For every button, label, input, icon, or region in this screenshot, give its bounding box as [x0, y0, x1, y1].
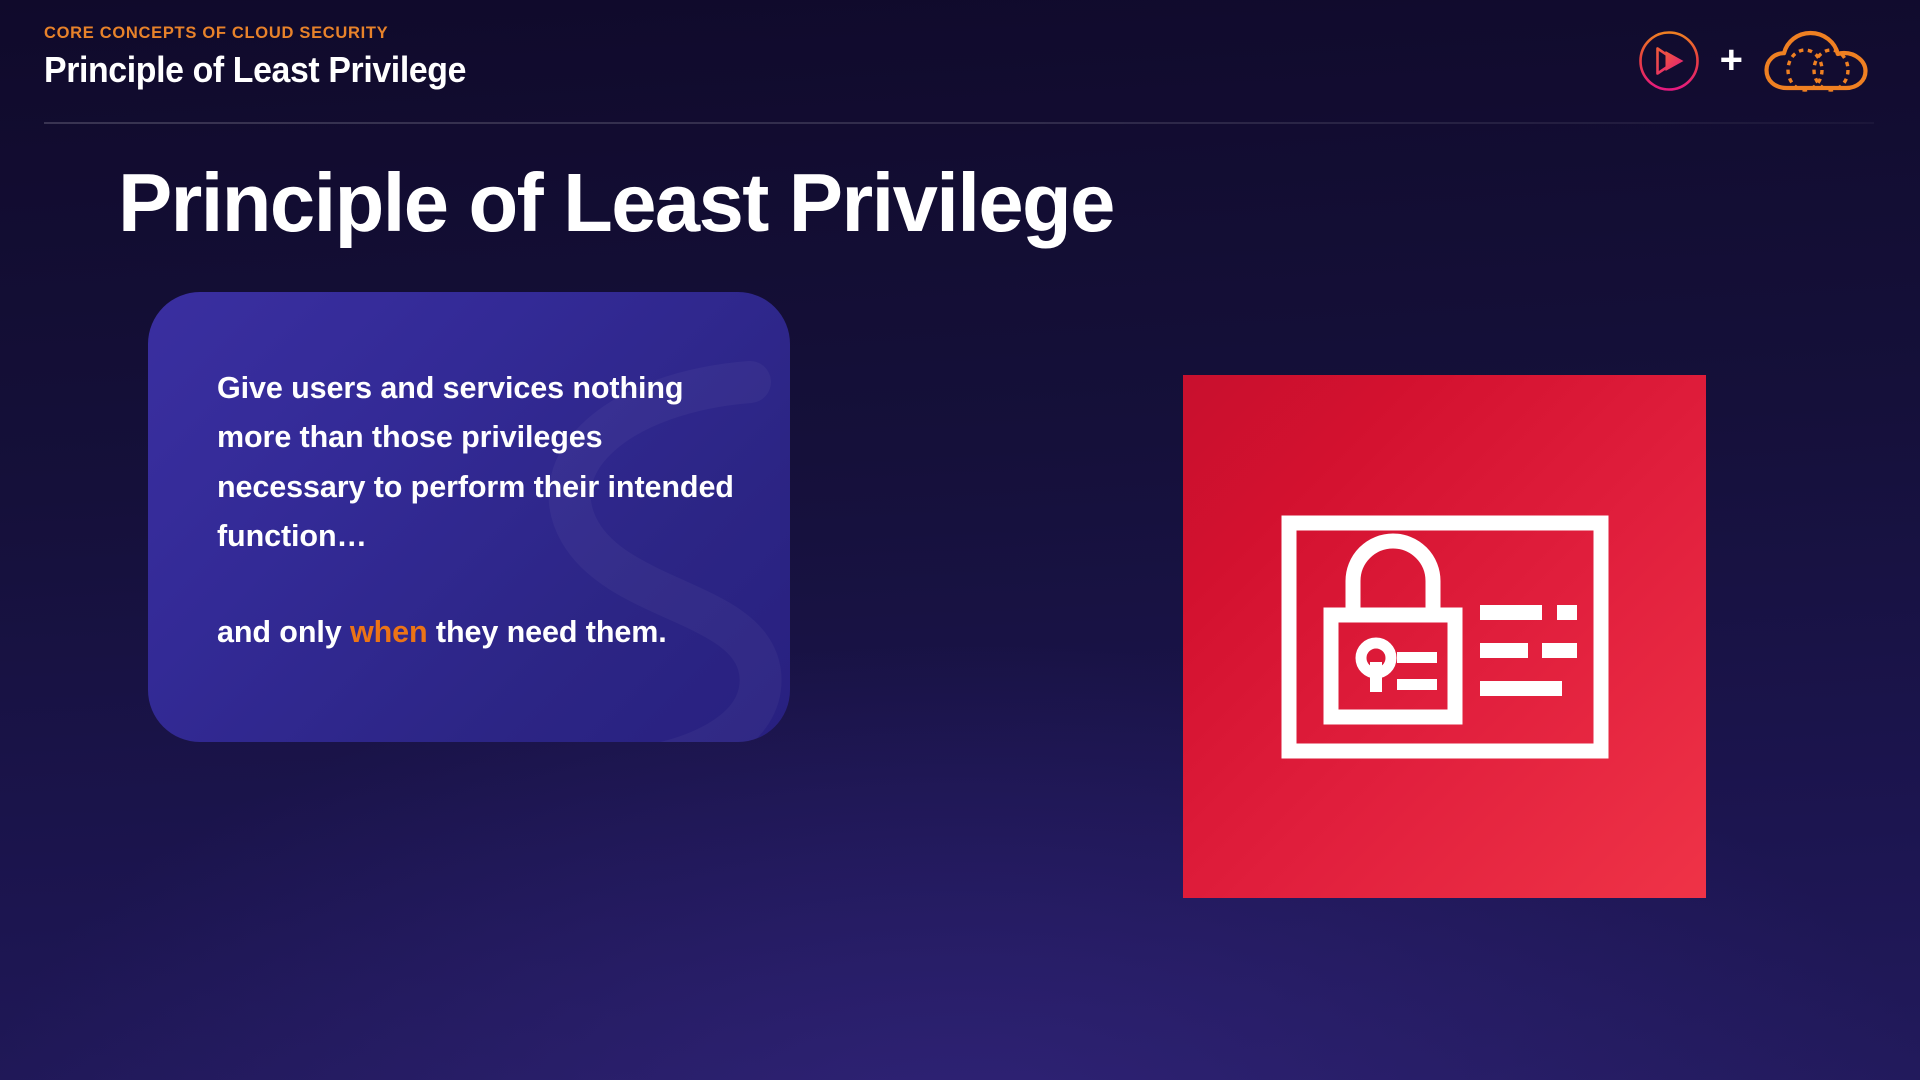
- card-paragraph-secondary: and only when they need them.: [217, 608, 737, 657]
- definition-card: Give users and services nothing more tha…: [148, 292, 790, 742]
- slide-header: CORE CONCEPTS OF CLOUD SECURITY Principl…: [0, 0, 1920, 150]
- cloud-outline-logo-icon: [1763, 28, 1873, 94]
- header-divider: [44, 122, 1874, 124]
- plus-separator: +: [1720, 40, 1743, 80]
- card-paragraph-secondary-after: they need them.: [428, 615, 667, 649]
- card-paragraph-primary: Give users and services nothing more tha…: [217, 364, 737, 562]
- header-title: Principle of Least Privilege: [44, 51, 466, 89]
- header-text-block: CORE CONCEPTS OF CLOUD SECURITY Principl…: [44, 24, 493, 89]
- brand-logo-group: +: [1638, 26, 1873, 96]
- iam-icon-panel: [1183, 375, 1706, 898]
- aws-iam-identity-card-lock-icon: [1265, 457, 1625, 817]
- header-eyebrow: CORE CONCEPTS OF CLOUD SECURITY: [44, 24, 493, 42]
- page-title: Principle of Least Privilege: [118, 158, 1114, 248]
- play-circle-logo-icon: [1638, 30, 1700, 92]
- card-highlight-when: when: [350, 615, 428, 649]
- card-paragraph-secondary-before: and only: [217, 615, 350, 649]
- card-text-block: Give users and services nothing more tha…: [217, 364, 737, 657]
